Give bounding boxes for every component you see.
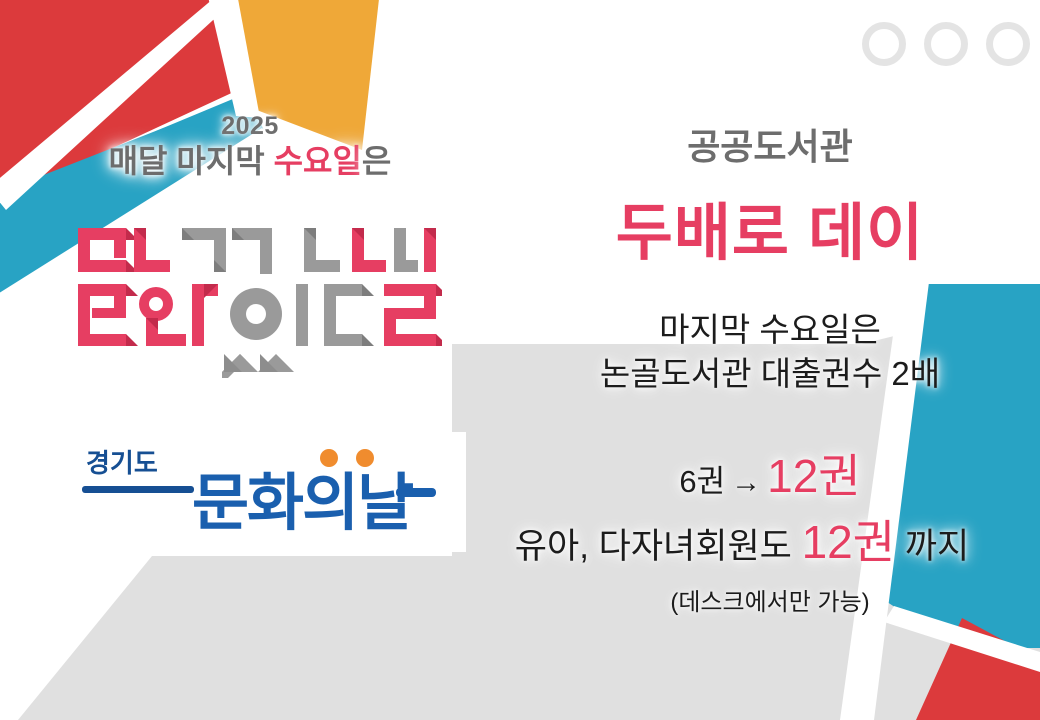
schedule-text-prefix: 매달 마지막 (109, 143, 274, 179)
gg-underline-rule (82, 486, 194, 493)
year-label: 2025 (40, 112, 460, 140)
gyeonggi-culture-day-label: 문화의날 (192, 469, 413, 538)
description-line-1: 마지막 수요일은 (500, 308, 1040, 352)
gg-trailing-dash (396, 488, 436, 497)
wordmark-row-top (78, 228, 436, 274)
description-line-2: 논골도서관 대출권수 2배 (500, 352, 1040, 396)
gyeonggi-culture-day-logo: 문화의날 경기도 문화의날 (80, 438, 440, 546)
schedule-text-suffix: 은 (362, 143, 391, 179)
special-member-suffix: 까지 (895, 527, 969, 566)
gyeonggi-province-label: 경기도 (86, 448, 158, 478)
culture-day-wordmark-logo: 문화가 있는 날 (72, 222, 442, 382)
library-category-label: 공공도서관 (500, 118, 1040, 170)
availability-note: (데스크에서만 가능) (500, 582, 1040, 617)
left-headline-block: 2025 매달 마지막 수요일은 (40, 112, 460, 180)
schedule-text-highlight: 수요일 (274, 143, 362, 179)
loan-limit-stat-row: 6권→12권 (500, 440, 1040, 506)
campaign-title: 두배로 데이 (500, 182, 1040, 272)
special-member-stat-row: 유아, 다자녀회원도 12권 까지 (472, 506, 1012, 572)
loan-limit-after: 12권 (767, 450, 861, 502)
wordmark-row-bottom (78, 284, 442, 346)
weekly-schedule-label: 매달 마지막 수요일은 (40, 144, 460, 180)
special-member-prefix: 유아, 다자녀회원도 (515, 527, 802, 566)
loan-limit-before: 6권 (679, 464, 725, 499)
right-content-column: 공공도서관 두배로 데이 마지막 수요일은 논골도서관 대출권수 2배 6권→1… (500, 0, 1040, 720)
poster-canvas: 2025 매달 마지막 수요일은 문화가 있는 날 (0, 0, 1040, 720)
orange-dot-icon (356, 449, 374, 467)
campaign-description: 마지막 수요일은 논골도서관 대출권수 2배 (500, 308, 1040, 395)
wordmark-zigzag-accent (222, 354, 294, 378)
special-member-limit: 12권 (802, 516, 896, 568)
orange-dot-icon (320, 449, 338, 467)
arrow-right-icon: → (725, 466, 767, 499)
